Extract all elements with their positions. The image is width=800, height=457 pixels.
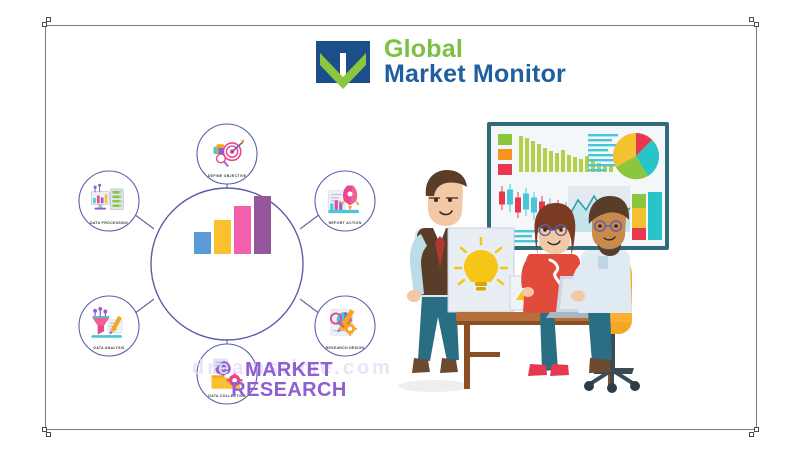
- brand-line-2: Market Monitor: [384, 62, 566, 88]
- diagram-hub: [151, 188, 303, 340]
- node-label-research-design: RESEARCH DESIGN: [326, 346, 365, 350]
- frame-handle-bottom-right[interactable]: [754, 427, 759, 432]
- pie-chart: [613, 133, 659, 179]
- global-market-monitor-m-logo: [312, 31, 374, 93]
- legend-swatches: [498, 134, 512, 175]
- diagram-hub-title: MARKET RESEARCH: [214, 360, 364, 400]
- node-label-data-processing: DATA PROCESSING: [90, 221, 128, 225]
- diagram-node-research-design: RESEARCH DESIGN: [315, 296, 375, 356]
- node-label-define-objective: DEFINE OBJECTIVE: [208, 174, 247, 178]
- node-label-data-analysis: DATA ANALYSIS: [93, 346, 125, 350]
- frame-handle-bottom-left-alt[interactable]: [46, 432, 51, 437]
- diagram-node-data-analysis: DATA ANALYSIS: [79, 296, 139, 356]
- frame-handle-top-left-alt[interactable]: [46, 17, 51, 22]
- hub-title-line-2: RESEARCH: [214, 380, 364, 400]
- frame-handle-top-right[interactable]: [754, 22, 759, 27]
- frame-handle-bottom-right-alt[interactable]: [749, 432, 754, 437]
- node-label-report-action: REPORT ACTION: [329, 221, 362, 225]
- slide-canvas: Global Market Monitor: [0, 0, 800, 457]
- frame-handle-top-left[interactable]: [42, 22, 47, 27]
- market-research-diagram: DEFINE OBJECTIVE: [62, 104, 392, 416]
- brand-logo: Global Market Monitor: [312, 31, 566, 93]
- brand-line-1: Global: [384, 37, 566, 63]
- business-team-presentation-scene: [392, 100, 722, 412]
- diagram-node-report-action: REPORT ACTION: [315, 171, 375, 231]
- diagram-node-data-processing: DATA PROCESSING: [79, 171, 139, 231]
- brand-wordmark: Global Market Monitor: [384, 37, 566, 88]
- diagram-node-define-objective: DEFINE OBJECTIVE: [197, 124, 257, 184]
- lightbulb-poster: [448, 228, 514, 312]
- frame-handle-top-right-alt[interactable]: [749, 17, 754, 22]
- hub-title-line-1: MARKET: [245, 359, 333, 381]
